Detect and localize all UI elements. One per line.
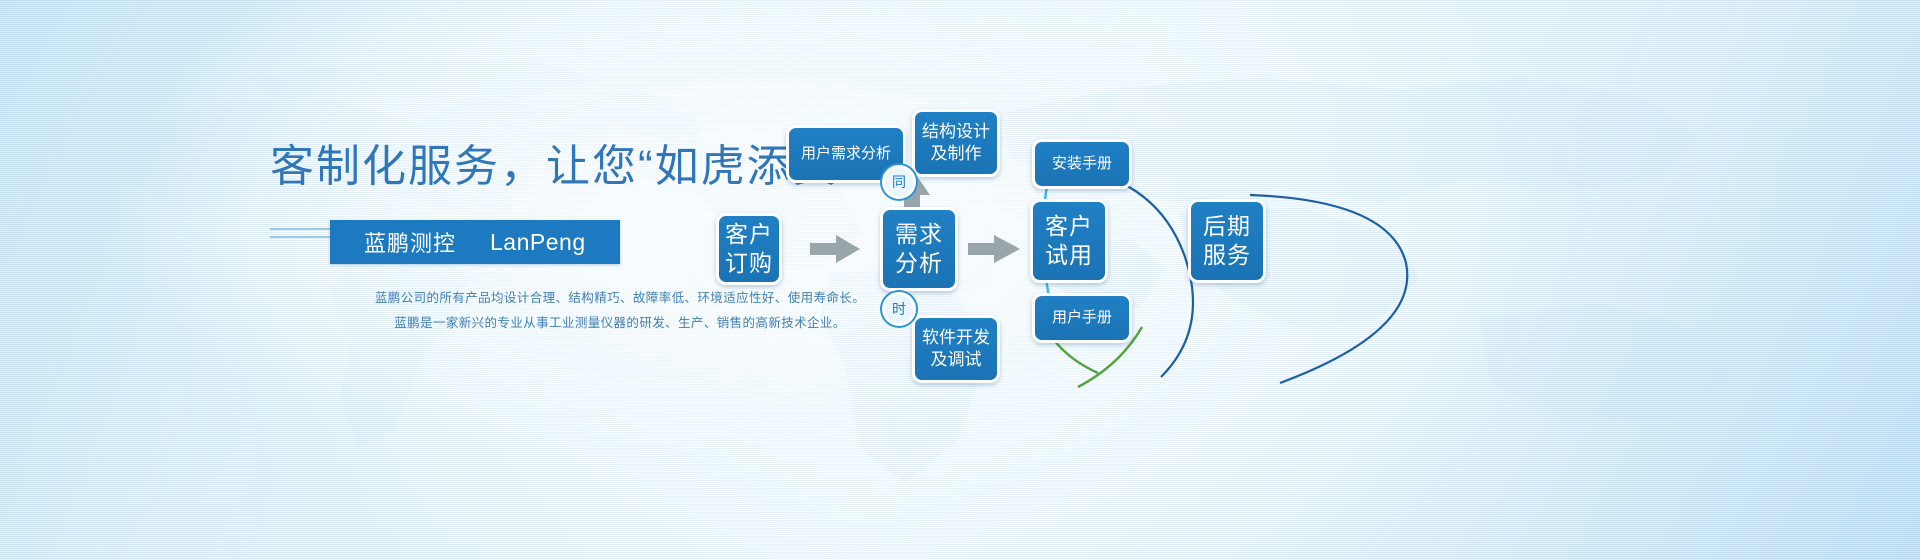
brand-name-en: LanPeng	[490, 229, 586, 256]
process-flow-diagram: 用户需求分析 客户 订购 需求 分析 结构设计 及制作 软件开发 及调试 安装手…	[690, 95, 1920, 425]
brand-name-cn: 蓝鹏测控	[364, 226, 456, 258]
node-after-service[interactable]: 后期 服务	[1188, 199, 1266, 283]
brand-bar: 蓝鹏测控 LanPeng	[330, 220, 620, 264]
connector-circle-tong: 同	[882, 165, 916, 199]
arrow-order-to-analysis	[810, 235, 860, 263]
node-user-manual[interactable]: 用户手册	[1032, 293, 1132, 343]
node-customer-trial[interactable]: 客户 试用	[1030, 199, 1108, 283]
node-demand-analysis[interactable]: 需求 分析	[880, 207, 958, 291]
node-software-dev[interactable]: 软件开发 及调试	[912, 315, 1000, 383]
node-install-manual[interactable]: 安装手册	[1032, 139, 1132, 189]
node-structure-design[interactable]: 结构设计 及制作	[912, 109, 1000, 177]
connector-circle-shi: 时	[882, 292, 916, 326]
banner-root: 客制化服务，让您“如虎添翼” 蓝鹏测控 LanPeng 蓝鹏公司的所有产品均设计…	[0, 0, 1920, 560]
arc-blue-outer	[1250, 195, 1407, 383]
node-customer-order[interactable]: 客户 订购	[716, 213, 782, 285]
arrow-analysis-to-design	[968, 235, 1020, 263]
